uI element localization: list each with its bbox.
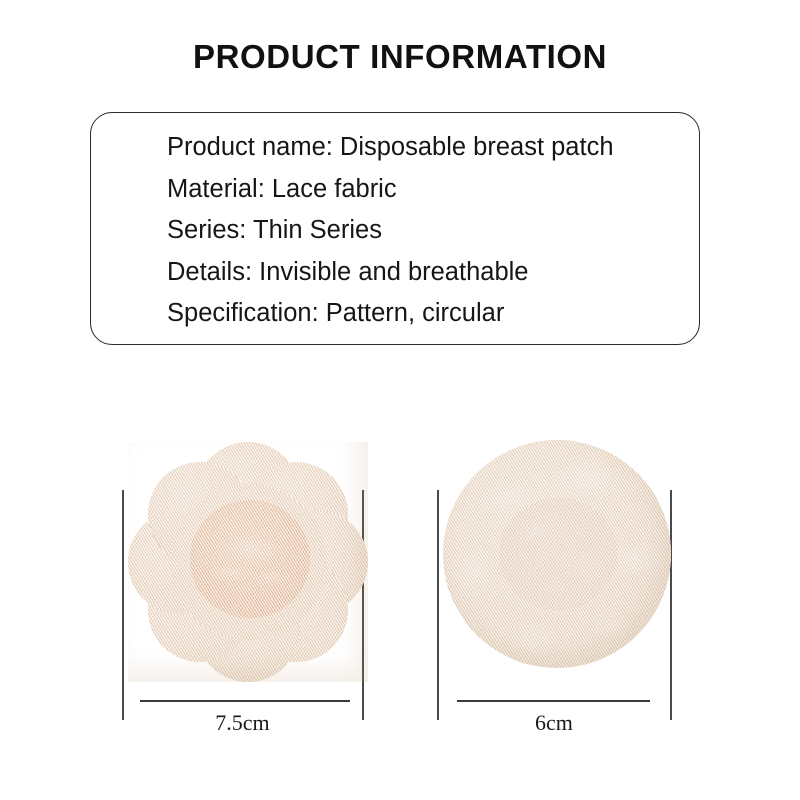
dimension-label-width: 7.5cm	[110, 710, 375, 736]
product-figure-circular-patch: 6cm	[425, 430, 683, 760]
info-line-specification: Specification: Pattern, circular	[167, 293, 614, 335]
lace-swirl-pattern	[190, 500, 310, 618]
info-line-material: Material: Lace fabric	[167, 169, 614, 211]
circular-breast-patch-image	[443, 440, 671, 668]
product-figure-flower-patch: 7.5cm	[110, 430, 375, 760]
dimension-line-horizontal	[140, 700, 350, 702]
product-information-page: PRODUCT INFORMATION Product name: Dispos…	[0, 0, 800, 800]
dimension-tick-left	[437, 490, 439, 720]
dimension-line-horizontal	[457, 700, 650, 702]
fabric-weave-texture	[499, 498, 617, 610]
dimension-tick-left	[122, 490, 124, 720]
lace-floral-pattern	[499, 498, 617, 610]
dimension-label-width: 6cm	[425, 710, 683, 736]
dimension-tick-right	[670, 490, 672, 720]
info-line-product-name: Product name: Disposable breast patch	[167, 127, 614, 169]
patch-center-circle	[190, 500, 310, 618]
product-info-box: Product name: Disposable breast patch Ma…	[90, 112, 700, 345]
page-title: PRODUCT INFORMATION	[0, 38, 800, 76]
info-line-series: Series: Thin Series	[167, 210, 614, 252]
product-info-list: Product name: Disposable breast patch Ma…	[167, 127, 614, 335]
flower-breast-patch-image	[128, 442, 368, 682]
info-line-details: Details: Invisible and breathable	[167, 252, 614, 294]
patch-center-circle	[499, 498, 617, 610]
